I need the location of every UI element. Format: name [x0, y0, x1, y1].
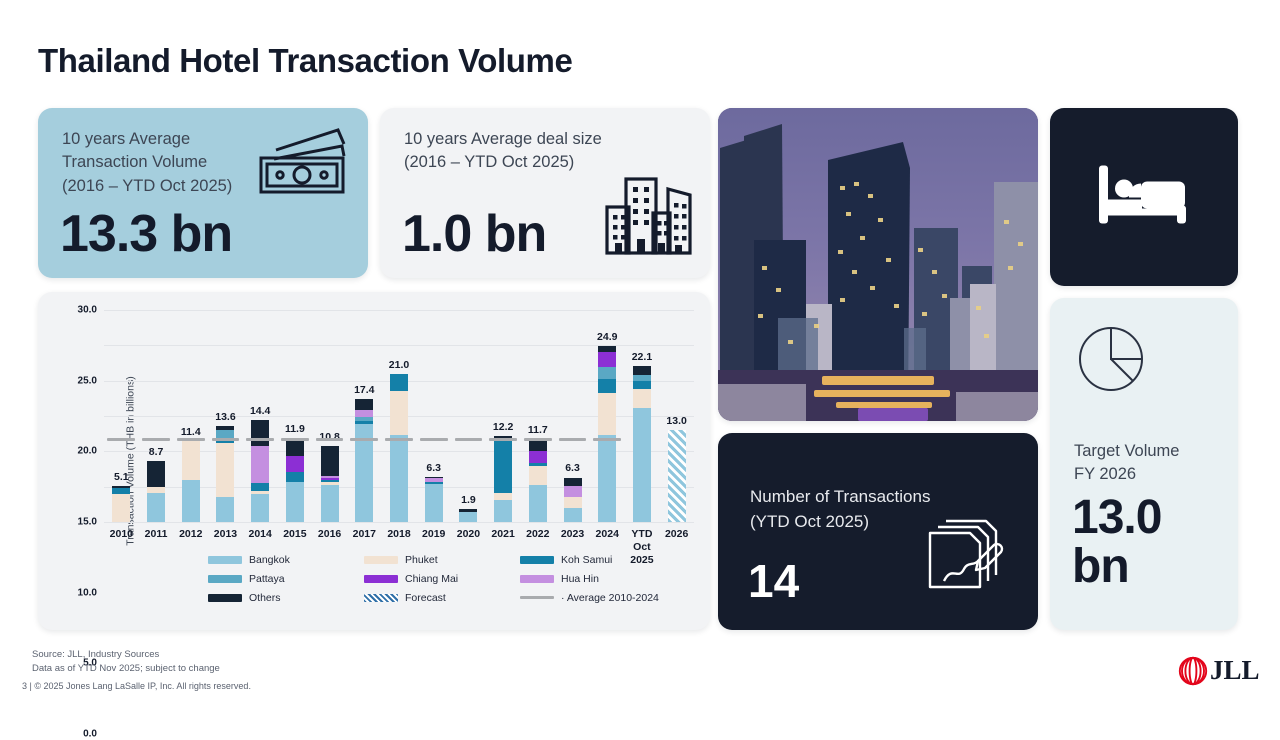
chart-y-tick: 30.0: [78, 305, 97, 316]
banknote-icon: [254, 126, 350, 203]
chart-y-tick: 10.0: [78, 587, 97, 598]
chart-bar-segment: [321, 480, 339, 481]
transactions-label: Number of Transactions (YTD Oct 2025): [750, 485, 930, 534]
chart-bar[interactable]: 11.7: [529, 439, 547, 522]
chart-bar[interactable]: 11.4: [182, 441, 200, 522]
chart-y-tick: 15.0: [78, 517, 97, 528]
chart-legend-swatch: [208, 575, 242, 583]
chart-bar-segment: [251, 446, 269, 483]
chart-legend-item[interactable]: Others: [208, 588, 364, 607]
target-volume-value: 13.0 bn: [1072, 494, 1161, 592]
hotel-bed-card: [1050, 108, 1238, 286]
chart-bar-segment: [251, 483, 269, 491]
chart-bar[interactable]: 14.4: [251, 420, 269, 522]
chart-bar-segment: [112, 488, 130, 494]
chart-bar-segment: [494, 441, 512, 493]
chart-average-segment: [212, 438, 240, 442]
chart-bar-segment: [355, 410, 373, 416]
chart-bar-segment: [633, 375, 651, 381]
chart-x-label: 2021: [491, 528, 514, 541]
buildings-icon: [604, 173, 694, 264]
chart-x-label: 2019: [422, 528, 445, 541]
chart-legend-item[interactable]: Forecast: [364, 588, 520, 607]
chart-legend-item[interactable]: Pattaya: [208, 569, 364, 588]
chart-bar[interactable]: 22.1: [633, 366, 651, 522]
chart-bar-segment: [633, 381, 651, 389]
chart-bar-segment: [529, 451, 547, 464]
chart-bar-segment: [216, 497, 234, 522]
chart-legend-swatch: [520, 556, 554, 564]
chart-bar[interactable]: 5.1: [112, 486, 130, 522]
chart-bar-segment: [529, 485, 547, 522]
chart-bar-segment: [216, 441, 234, 443]
chart-average-segment: [524, 438, 552, 442]
chart-x-label: 2016: [318, 528, 341, 541]
target-volume-card: Target Volume FY 2026 13.0 bn: [1050, 298, 1238, 630]
chart-x-label: 2022: [526, 528, 549, 541]
chart-average-segment: [177, 438, 205, 442]
chart-y-tick: 0.0: [83, 729, 97, 740]
chart-x-label: 2010: [110, 528, 133, 541]
chart-bar-segment: [216, 426, 234, 430]
chart-bar-segment: [564, 497, 582, 508]
chart-bar[interactable]: 21.0: [390, 374, 408, 522]
chart-bar-segment: [216, 443, 234, 497]
chart-bar-segment: [112, 494, 130, 522]
chart-bar-segment: [564, 478, 582, 486]
chart-bar[interactable]: 1.9: [459, 509, 477, 522]
chart-bar-total-label: 22.1: [632, 351, 652, 363]
chart-legend-item[interactable]: · Average 2010-2024: [520, 588, 676, 607]
page-title: Thailand Hotel Transaction Volume: [38, 42, 572, 80]
chart-legend-label: Others: [249, 592, 281, 604]
chart-legend-swatch: [364, 594, 398, 602]
chart-x-label: 2014: [248, 528, 271, 541]
kpi-average-volume-label: 10 years Average Transaction Volume (201…: [62, 128, 232, 198]
hero-image: [718, 108, 1038, 421]
chart-bar-segment: [598, 346, 616, 352]
chart-bar-total-label: 1.9: [461, 494, 476, 506]
chart-bar-segment: [147, 493, 165, 522]
chart-bar-segment: [494, 500, 512, 522]
chart-bar-total-label: 12.2: [493, 421, 513, 433]
chart-bar-segment: [147, 487, 165, 493]
chart-bar-total-label: 13.0: [666, 415, 686, 427]
chart-average-segment: [281, 438, 309, 442]
chart-bar-segment: [147, 461, 165, 487]
chart-x-label: 2020: [457, 528, 480, 541]
chart-bar-total-label: 24.9: [597, 331, 617, 343]
chart-bar[interactable]: 13.0: [668, 430, 686, 522]
source-note: Source: JLL, Industry Sources Data as of…: [32, 648, 220, 677]
chart-bar-segment: [529, 466, 547, 484]
chart-bar-segment: [390, 374, 408, 391]
chart-average-segment: [455, 438, 483, 442]
chart-bar-total-label: 6.3: [565, 462, 580, 474]
chart-legend-label: Koh Samui: [561, 554, 612, 566]
chart-legend-swatch: [208, 594, 242, 602]
chart-bar-segment: [112, 486, 130, 488]
chart-bar-total-label: 5.1: [114, 471, 129, 483]
chart-x-label: 2024: [596, 528, 619, 541]
chart-bar-segment: [529, 439, 547, 450]
chart-x-label: 2023: [561, 528, 584, 541]
chart-bar-segment: [321, 478, 339, 480]
chart-x-label: 2026: [665, 528, 688, 541]
chart-legend-swatch: [364, 575, 398, 583]
chart-bar-segment: [633, 389, 651, 407]
chart-bar[interactable]: 6.3: [564, 477, 582, 522]
chart-bar-total-label: 21.0: [389, 359, 409, 371]
chart-bar-segment: [633, 366, 651, 375]
chart-bar-segment: [598, 379, 616, 393]
chart-bar-segment: [668, 430, 686, 522]
chart-bar-segment: [425, 477, 443, 478]
chart-legend-label: Pattaya: [249, 573, 285, 585]
chart-y-tick: 25.0: [78, 375, 97, 386]
chart-bar-segment: [321, 446, 339, 476]
chart-plot-area[interactable]: 0.05.010.015.020.025.030.0 5.18.711.413.…: [104, 310, 694, 522]
target-volume-label: Target Volume FY 2026: [1074, 440, 1179, 487]
chart-bar-segment: [425, 484, 443, 522]
chart-bar-segment: [598, 393, 616, 435]
signed-documents-icon: [924, 519, 1008, 608]
chart-legend-label: Hua Hin: [561, 573, 599, 585]
chart-average-segment: [489, 438, 517, 442]
chart-bar-total-label: 11.9: [285, 423, 305, 435]
kpi-average-volume-value: 13.3 bn: [60, 204, 232, 264]
chart-average-segment: [350, 438, 378, 442]
chart-average-segment: [107, 438, 135, 442]
slide-root: Thailand Hotel Transaction Volume 10 yea…: [0, 0, 1280, 720]
chart-bar-total-label: 11.4: [181, 426, 201, 438]
chart-average-segment: [420, 438, 448, 442]
chart-bar-segment: [598, 367, 616, 379]
chart-bar[interactable]: 24.9: [598, 346, 616, 522]
chart-bar-segment: [564, 486, 582, 497]
chart-legend-item[interactable]: Bangkok: [208, 550, 364, 569]
jll-logo: JLL: [1178, 655, 1260, 686]
chart-bar-segment: [459, 512, 477, 522]
chart-bar-segment: [598, 435, 616, 522]
chart-bar-segment: [286, 482, 304, 522]
jll-wordmark: JLL: [1210, 655, 1260, 686]
chart-legend-item[interactable]: Hua Hin: [520, 569, 676, 588]
chart-x-label: 2015: [283, 528, 306, 541]
chart-x-label: 2012: [179, 528, 202, 541]
chart-legend-swatch: [208, 556, 242, 564]
pie-chart-icon: [1076, 324, 1146, 399]
chart-bar-segment: [633, 408, 651, 522]
chart-legend-swatch: [520, 575, 554, 583]
kpi-card-average-volume: 10 years Average Transaction Volume (201…: [38, 108, 368, 278]
chart-bar-segment: [494, 493, 512, 500]
chart-legend-swatch: [364, 556, 398, 564]
chart-gridline: 0.0: [104, 522, 694, 523]
chart-bar-segment: [286, 456, 304, 472]
chart-bar-total-label: 17.4: [354, 384, 374, 396]
chart-bar-segment: [355, 399, 373, 410]
chart-legend-item[interactable]: Chiang Mai: [364, 569, 520, 588]
chart-x-label: 2013: [214, 528, 237, 541]
chart-average-segment: [385, 438, 413, 442]
chart-bar-segment: [459, 509, 477, 513]
chart-legend-label: Bangkok: [249, 554, 290, 566]
chart-bar-segment: [286, 472, 304, 483]
chart-bar-total-label: 14.4: [250, 405, 270, 417]
chart-x-label: 2011: [145, 528, 168, 541]
kpi-deal-size-value: 1.0 bn: [402, 204, 546, 264]
chart-legend-item[interactable]: Koh Samui: [520, 550, 676, 569]
chart-bar-total-label: 6.3: [426, 462, 441, 474]
chart-y-tick: 20.0: [78, 446, 97, 457]
chart-bar-segment: [182, 441, 200, 480]
chart-average-segment: [593, 438, 621, 442]
chart-legend-label: Chiang Mai: [405, 573, 458, 585]
chart-bar-segment: [321, 485, 339, 522]
chart-bar[interactable]: 11.9: [286, 438, 304, 522]
chart-bar-segment: [251, 420, 269, 445]
chart-x-label: 2017: [353, 528, 376, 541]
hotel-bed-icon: [1097, 164, 1191, 231]
chart-bar-segment: [564, 508, 582, 522]
transactions-value: 14: [748, 554, 799, 608]
chart-bar-segment: [529, 463, 547, 466]
chart-average-segment: [246, 438, 274, 442]
chart-legend-item[interactable]: Phuket: [364, 550, 520, 569]
chart-bar-total-label: 11.7: [528, 424, 548, 436]
chart-bar[interactable]: 17.4: [355, 399, 373, 522]
chart-bar-segment: [425, 478, 443, 482]
chart-bar-total-label: 8.7: [149, 446, 164, 458]
chart-average-segment: [316, 438, 344, 442]
chart-average-segment: [559, 438, 587, 442]
chart-legend-swatch: [520, 596, 554, 599]
chart-bar-segment: [321, 482, 339, 485]
chart-bar-segment: [321, 476, 339, 478]
kpi-card-deal-size: 10 years Average deal size (2016 – YTD O…: [380, 108, 710, 278]
chart-bar-segment: [355, 417, 373, 421]
chart-legend-label: · Average 2010-2024: [561, 592, 659, 604]
chart-legend[interactable]: BangkokPhuketKoh SamuiPattayaChiang MaiH…: [208, 550, 678, 607]
chart-panel: Transaction Volume (THB in billions) 0.0…: [38, 292, 710, 630]
chart-bar[interactable]: 12.2: [494, 436, 512, 522]
copyright-note: 3 | © 2025 Jones Lang LaSalle IP, Inc. A…: [22, 681, 251, 691]
chart-bar-segment: [251, 494, 269, 522]
chart-bar[interactable]: 8.7: [147, 461, 165, 522]
chart-bar-segment: [355, 421, 373, 424]
transactions-card: Number of Transactions (YTD Oct 2025) 14: [718, 433, 1038, 630]
chart-x-label: 2018: [387, 528, 410, 541]
chart-legend-label: Phuket: [405, 554, 438, 566]
chart-bar-segment: [425, 482, 443, 484]
chart-bar-segment: [390, 391, 408, 436]
chart-legend-label: Forecast: [405, 592, 446, 604]
chart-bar-segment: [598, 352, 616, 366]
jll-mark-icon: [1178, 656, 1208, 686]
chart-bar-segment: [390, 435, 408, 522]
chart-average-segment: [142, 438, 170, 442]
chart-bar[interactable]: 6.3: [425, 477, 443, 522]
kpi-deal-size-label: 10 years Average deal size (2016 – YTD O…: [404, 128, 602, 175]
chart-bar[interactable]: 10.8: [321, 446, 339, 522]
chart-bar-total-label: 13.6: [215, 411, 235, 423]
chart-bar-segment: [251, 491, 269, 495]
chart-bar-segment: [182, 480, 200, 522]
chart-bars: 5.18.711.413.614.411.910.817.421.06.31.9…: [104, 310, 694, 522]
